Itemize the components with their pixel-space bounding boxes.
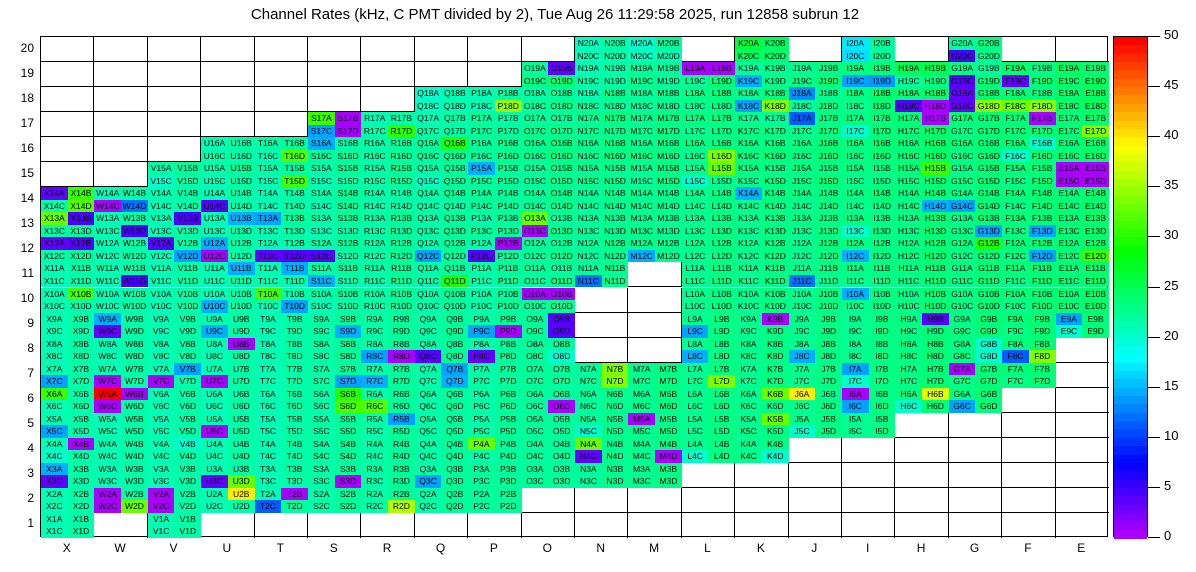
channel-N4A[interactable]: N4A bbox=[575, 438, 602, 451]
channel-T4C[interactable]: T4C bbox=[255, 450, 282, 463]
channel-O8A[interactable]: O8A bbox=[522, 338, 549, 351]
channel-Q2B[interactable]: Q2B bbox=[441, 488, 468, 501]
grid-cell-T2[interactable]: T2AT2BT2CT2D bbox=[255, 488, 308, 513]
grid-cell-W4[interactable]: W4AW4BW4CW4D bbox=[94, 438, 147, 463]
channel-V15C[interactable]: V15C bbox=[148, 175, 175, 188]
channel-E11A[interactable]: E11A bbox=[1056, 262, 1083, 275]
channel-R13B[interactable]: R13B bbox=[388, 212, 415, 225]
channel-X13D[interactable]: X13D bbox=[68, 225, 95, 238]
grid-cell-W5[interactable]: W5AW5BW5CW5D bbox=[94, 413, 147, 438]
channel-W4B[interactable]: W4B bbox=[121, 438, 148, 451]
channel-P8B[interactable]: P8B bbox=[495, 338, 522, 351]
channel-V8A[interactable]: V8A bbox=[148, 338, 175, 351]
grid-cell-M13[interactable]: M13AM13BM13CM13D bbox=[628, 212, 681, 237]
channel-U15B[interactable]: U15B bbox=[228, 162, 255, 175]
channel-K10C[interactable]: K10C bbox=[735, 300, 762, 313]
channel-R6C[interactable]: R6C bbox=[361, 400, 388, 413]
grid-cell-E1[interactable] bbox=[1056, 513, 1109, 538]
channel-O16C[interactable]: O16C bbox=[522, 150, 549, 163]
grid-cell-K16[interactable]: K16AK16BK16CK16D bbox=[735, 137, 788, 162]
channel-R10B[interactable]: R10B bbox=[388, 288, 415, 301]
grid-cell-F13[interactable]: F13AF13BF13CF13D bbox=[1002, 212, 1055, 237]
channel-J10D[interactable]: J10D bbox=[815, 300, 842, 313]
channel-L7A[interactable]: L7A bbox=[682, 363, 709, 376]
channel-G16B[interactable]: G16B bbox=[975, 137, 1002, 150]
grid-cell-Q20[interactable] bbox=[415, 37, 468, 62]
grid-cell-X6[interactable]: X6AX6BX6CX6D bbox=[41, 388, 94, 413]
channel-J8B[interactable]: J8B bbox=[815, 338, 842, 351]
channel-V11C[interactable]: V11C bbox=[148, 275, 175, 288]
grid-cell-H16[interactable]: H16AH16BH16CH16D bbox=[895, 137, 948, 162]
channel-Q14C[interactable]: Q14C bbox=[415, 200, 442, 213]
channel-L11D[interactable]: L11D bbox=[708, 275, 735, 288]
grid-cell-L4[interactable]: L4AL4BL4CL4D bbox=[682, 438, 735, 463]
channel-N7A[interactable]: N7A bbox=[575, 363, 602, 376]
channel-W7A[interactable]: W7A bbox=[94, 363, 121, 376]
channel-N5D[interactable]: N5D bbox=[602, 425, 629, 438]
channel-M16B[interactable]: M16B bbox=[655, 137, 682, 150]
channel-F9B[interactable]: F9B bbox=[1029, 313, 1056, 326]
grid-cell-R1[interactable] bbox=[361, 513, 414, 538]
channel-H16A[interactable]: H16A bbox=[895, 137, 922, 150]
grid-cell-W11[interactable]: W11AW11BW11CW11D bbox=[94, 262, 147, 287]
channel-T15A[interactable]: T15A bbox=[255, 162, 282, 175]
grid-cell-F3[interactable] bbox=[1002, 463, 1055, 488]
channel-F15B[interactable]: F15B bbox=[1029, 162, 1056, 175]
channel-W2A[interactable]: W2A bbox=[94, 488, 121, 501]
channel-N5B[interactable]: N5B bbox=[602, 413, 629, 426]
channel-T5C[interactable]: T5C bbox=[255, 425, 282, 438]
channel-V12B[interactable]: V12B bbox=[174, 237, 201, 250]
grid-cell-P3[interactable]: P3AP3BP3CP3D bbox=[468, 463, 521, 488]
channel-R2A[interactable]: R2A bbox=[361, 488, 388, 501]
channel-Q15A[interactable]: Q15A bbox=[415, 162, 442, 175]
channel-T16D[interactable]: T16D bbox=[281, 150, 308, 163]
channel-P18D[interactable]: P18D bbox=[495, 100, 522, 113]
channel-F16D[interactable]: F16D bbox=[1029, 150, 1056, 163]
grid-cell-G12[interactable]: G12AG12BG12CG12D bbox=[949, 237, 1002, 262]
channel-V10A[interactable]: V10A bbox=[148, 288, 175, 301]
grid-cell-H4[interactable] bbox=[895, 438, 948, 463]
grid-cell-M5[interactable]: M5AM5BM5CM5D bbox=[628, 413, 681, 438]
channel-O16A[interactable]: O16A bbox=[522, 137, 549, 150]
channel-V3A[interactable]: V3A bbox=[148, 463, 175, 476]
channel-R12D[interactable]: R12D bbox=[388, 250, 415, 263]
channel-P16D[interactable]: P16D bbox=[495, 150, 522, 163]
channel-T9B[interactable]: T9B bbox=[281, 313, 308, 326]
channel-O14A[interactable]: O14A bbox=[522, 187, 549, 200]
channel-H10D[interactable]: H10D bbox=[922, 300, 949, 313]
channel-H9C[interactable]: H9C bbox=[895, 325, 922, 338]
channel-I10B[interactable]: I10B bbox=[869, 288, 896, 301]
channel-O7A[interactable]: O7A bbox=[522, 363, 549, 376]
channel-W13A[interactable]: W13A bbox=[94, 212, 121, 225]
grid-cell-X17[interactable] bbox=[41, 112, 94, 137]
channel-M12B[interactable]: M12B bbox=[655, 237, 682, 250]
channel-P15D[interactable]: P15D bbox=[495, 175, 522, 188]
grid-cell-L20[interactable] bbox=[682, 37, 735, 62]
channel-X5D[interactable]: X5D bbox=[68, 425, 95, 438]
grid-cell-U12[interactable]: U12AU12BU12CU12D bbox=[201, 237, 254, 262]
channel-I8A[interactable]: I8A bbox=[842, 338, 869, 351]
grid-cell-K2[interactable] bbox=[735, 488, 788, 513]
channel-J18B[interactable]: J18B bbox=[815, 87, 842, 100]
channel-I17C[interactable]: I17C bbox=[842, 125, 869, 138]
channel-G11A[interactable]: G11A bbox=[949, 262, 976, 275]
channel-U12C[interactable]: U12C bbox=[201, 250, 228, 263]
channel-X14B[interactable]: X14B bbox=[68, 187, 95, 200]
channel-E17A[interactable]: E17A bbox=[1056, 112, 1083, 125]
channel-V15D[interactable]: V15D bbox=[174, 175, 201, 188]
grid-cell-L14[interactable]: L14AL14BL14CL14D bbox=[682, 187, 735, 212]
grid-cell-P8[interactable]: P8AP8BP8CP8D bbox=[468, 338, 521, 363]
channel-I20C[interactable]: I20C bbox=[842, 50, 869, 63]
channel-I15C[interactable]: I15C bbox=[842, 175, 869, 188]
channel-U7B[interactable]: U7B bbox=[228, 363, 255, 376]
grid-cell-F6[interactable] bbox=[1002, 388, 1055, 413]
channel-I12A[interactable]: I12A bbox=[842, 237, 869, 250]
channel-O17C[interactable]: O17C bbox=[522, 125, 549, 138]
grid-cell-K3[interactable] bbox=[735, 463, 788, 488]
grid-cell-H15[interactable]: H15AH15BH15CH15D bbox=[895, 162, 948, 187]
grid-cell-I18[interactable]: I18AI18BI18CI18D bbox=[842, 87, 895, 112]
channel-P5C[interactable]: P5C bbox=[468, 425, 495, 438]
channel-P5A[interactable]: P5A bbox=[468, 413, 495, 426]
channel-K5D[interactable]: K5D bbox=[762, 425, 789, 438]
channel-J13D[interactable]: J13D bbox=[815, 225, 842, 238]
channel-U14C[interactable]: U14C bbox=[201, 200, 228, 213]
channel-N19A[interactable]: N19A bbox=[575, 62, 602, 75]
channel-I18B[interactable]: I18B bbox=[869, 87, 896, 100]
channel-W3B[interactable]: W3B bbox=[121, 463, 148, 476]
channel-M6A[interactable]: M6A bbox=[628, 388, 655, 401]
grid-cell-M2[interactable] bbox=[628, 488, 681, 513]
channel-O5C[interactable]: O5C bbox=[522, 425, 549, 438]
grid-cell-K18[interactable]: K18AK18BK18CK18D bbox=[735, 87, 788, 112]
grid-cell-V3[interactable]: V3AV3BV3CV3D bbox=[148, 463, 201, 488]
grid-cell-G19[interactable]: G19AG19BG19CG19D bbox=[949, 62, 1002, 87]
grid-cell-N20[interactable]: N20AN20BN20CN20D bbox=[575, 37, 628, 62]
grid-cell-I10[interactable]: I10AI10BI10CI10D bbox=[842, 288, 895, 313]
grid-cell-S15[interactable]: S15AS15BS15CS15D bbox=[308, 162, 361, 187]
channel-J20C[interactable] bbox=[789, 50, 816, 63]
grid-cell-X13[interactable]: X13AX13BX13CX13D bbox=[41, 212, 94, 237]
channel-K9D[interactable]: K9D bbox=[762, 325, 789, 338]
channel-P10A[interactable]: P10A bbox=[468, 288, 495, 301]
grid-cell-X3[interactable]: X3AX3BX3CX3D bbox=[41, 463, 94, 488]
channel-I7B[interactable]: I7B bbox=[869, 363, 896, 376]
channel-V9D[interactable]: V9D bbox=[174, 325, 201, 338]
channel-U15A[interactable]: U15A bbox=[201, 162, 228, 175]
channel-X13C[interactable]: X13C bbox=[41, 225, 68, 238]
channel-P6B[interactable]: P6B bbox=[495, 388, 522, 401]
channel-F7A[interactable]: F7A bbox=[1002, 363, 1029, 376]
channel-N11D[interactable]: N11D bbox=[602, 275, 629, 288]
channel-J16C[interactable]: J16C bbox=[789, 150, 816, 163]
grid-cell-M7[interactable]: M7AM7BM7CM7D bbox=[628, 363, 681, 388]
channel-L18B[interactable]: L18B bbox=[708, 87, 735, 100]
channel-W10B[interactable]: W10B bbox=[121, 288, 148, 301]
grid-cell-T3[interactable]: T3AT3BT3CT3D bbox=[255, 463, 308, 488]
channel-Q8B[interactable]: Q8B bbox=[441, 338, 468, 351]
channel-X8D[interactable]: X8D bbox=[68, 350, 95, 363]
channel-V10D[interactable]: V10D bbox=[174, 300, 201, 313]
channel-M17C[interactable]: M17C bbox=[628, 125, 655, 138]
channel-E15A[interactable]: E15A bbox=[1056, 162, 1083, 175]
channel-H11A[interactable]: H11A bbox=[895, 262, 922, 275]
grid-cell-U19[interactable] bbox=[201, 62, 254, 87]
channel-F9C[interactable]: F9C bbox=[1002, 325, 1029, 338]
grid-cell-Q18[interactable]: Q18AQ18BQ18CQ18D bbox=[415, 87, 468, 112]
channel-F15D[interactable]: F15D bbox=[1029, 175, 1056, 188]
channel-K8D[interactable]: K8D bbox=[762, 350, 789, 363]
channel-W7D[interactable]: W7D bbox=[121, 375, 148, 388]
channel-X11C[interactable]: X11C bbox=[41, 275, 68, 288]
channel-J16D[interactable]: J16D bbox=[815, 150, 842, 163]
channel-V10B[interactable]: V10B bbox=[174, 288, 201, 301]
channel-O9A[interactable]: O9A bbox=[522, 313, 549, 326]
channel-I14A[interactable]: I14A bbox=[842, 187, 869, 200]
grid-cell-S12[interactable]: S12AS12BS12CS12D bbox=[308, 237, 361, 262]
channel-O4D[interactable]: O4D bbox=[548, 450, 575, 463]
channel-E12A[interactable]: E12A bbox=[1056, 237, 1083, 250]
grid-cell-J9[interactable]: J9AJ9BJ9CJ9D bbox=[789, 313, 842, 338]
channel-H12C[interactable]: H12C bbox=[895, 250, 922, 263]
grid-cell-T5[interactable]: T5AT5BT5CT5D bbox=[255, 413, 308, 438]
grid-cell-N19[interactable]: N19AN19BN19CN19D bbox=[575, 62, 628, 87]
channel-M19C[interactable]: M19C bbox=[628, 75, 655, 88]
channel-N16A[interactable]: N16A bbox=[575, 137, 602, 150]
channel-S11B[interactable]: S11B bbox=[335, 262, 362, 275]
channel-U6C[interactable]: U6C bbox=[201, 400, 228, 413]
channel-K12B[interactable]: K12B bbox=[762, 237, 789, 250]
grid-cell-J6[interactable]: J6AJ6BJ6CJ6D bbox=[789, 388, 842, 413]
channel-P13D[interactable]: P13D bbox=[495, 225, 522, 238]
channel-M5D[interactable]: M5D bbox=[655, 425, 682, 438]
grid-cell-V15[interactable]: V15AV15BV15CV15D bbox=[148, 162, 201, 187]
grid-cell-X12[interactable]: X12AX12BX12CX12D bbox=[41, 237, 94, 262]
channel-M5C[interactable]: M5C bbox=[628, 425, 655, 438]
grid-cell-N2[interactable] bbox=[575, 488, 628, 513]
channel-M14A[interactable]: M14A bbox=[628, 187, 655, 200]
channel-L16B[interactable]: L16B bbox=[708, 137, 735, 150]
channel-V13B[interactable]: V13B bbox=[174, 212, 201, 225]
channel-U14A[interactable]: U14A bbox=[201, 187, 228, 200]
channel-R13A[interactable]: R13A bbox=[361, 212, 388, 225]
channel-U15D[interactable]: U15D bbox=[228, 175, 255, 188]
channel-L9D[interactable]: L9D bbox=[708, 325, 735, 338]
channel-M15B[interactable]: M15B bbox=[655, 162, 682, 175]
channel-G18D[interactable]: G18D bbox=[975, 100, 1002, 113]
channel-S7D[interactable]: S7D bbox=[335, 375, 362, 388]
channel-X3A[interactable]: X3A bbox=[41, 463, 68, 476]
channel-M12D[interactable]: M12D bbox=[655, 250, 682, 263]
channel-X9B[interactable]: X9B bbox=[68, 313, 95, 326]
channel-M13D[interactable]: M13D bbox=[655, 225, 682, 238]
grid-cell-V9[interactable]: V9AV9BV9CV9D bbox=[148, 313, 201, 338]
channel-N17A[interactable]: N17A bbox=[575, 112, 602, 125]
channel-W3D[interactable]: W3D bbox=[121, 475, 148, 488]
channel-X1A[interactable]: X1A bbox=[41, 513, 68, 526]
channel-Q12D[interactable]: Q12D bbox=[441, 250, 468, 263]
grid-cell-F1[interactable] bbox=[1002, 513, 1055, 538]
grid-cell-K7[interactable]: K7AK7BK7CK7D bbox=[735, 363, 788, 388]
channel-V11B[interactable]: V11B bbox=[174, 262, 201, 275]
grid-cell-K20[interactable]: K20AK20BK20CK20D bbox=[735, 37, 788, 62]
grid-cell-X10[interactable]: X10AX10BX10CX10D bbox=[41, 288, 94, 313]
grid-cell-X14[interactable]: X14AX14BX14CX14D bbox=[41, 187, 94, 212]
channel-E14D[interactable]: E14D bbox=[1082, 200, 1109, 213]
channel-M4B[interactable]: M4B bbox=[655, 438, 682, 451]
grid-cell-X20[interactable] bbox=[41, 37, 94, 62]
channel-G15D[interactable]: G15D bbox=[975, 175, 1002, 188]
channel-X4A[interactable]: X4A bbox=[41, 438, 68, 451]
channel-P7D[interactable]: P7D bbox=[495, 375, 522, 388]
channel-P3B[interactable]: P3B bbox=[495, 463, 522, 476]
channel-R16D[interactable]: R16D bbox=[388, 150, 415, 163]
channel-U13A[interactable]: U13A bbox=[201, 212, 228, 225]
grid-cell-U20[interactable] bbox=[201, 37, 254, 62]
grid-cell-V19[interactable] bbox=[148, 62, 201, 87]
channel-K16D[interactable]: K16D bbox=[762, 150, 789, 163]
channel-R15B[interactable]: R15B bbox=[388, 162, 415, 175]
channel-Q6A[interactable]: Q6A bbox=[415, 388, 442, 401]
channel-L14D[interactable]: L14D bbox=[708, 200, 735, 213]
channel-U6A[interactable]: U6A bbox=[201, 388, 228, 401]
grid-cell-I17[interactable]: I17AI17BI17CI17D bbox=[842, 112, 895, 137]
grid-cell-J5[interactable]: J5AJ5BJ5CJ5D bbox=[789, 413, 842, 438]
grid-cell-G10[interactable]: G10AG10BG10CG10D bbox=[949, 288, 1002, 313]
channel-V5D[interactable]: V5D bbox=[174, 425, 201, 438]
channel-I12B[interactable]: I12B bbox=[869, 237, 896, 250]
channel-O11D[interactable]: O11D bbox=[548, 275, 575, 288]
grid-cell-T4[interactable]: T4AT4BT4CT4D bbox=[255, 438, 308, 463]
grid-cell-V16[interactable] bbox=[148, 137, 201, 162]
channel-E16A[interactable]: E16A bbox=[1056, 137, 1083, 150]
channel-V6B[interactable]: V6B bbox=[174, 388, 201, 401]
grid-cell-G5[interactable] bbox=[949, 413, 1002, 438]
channel-L19D[interactable]: L19D bbox=[708, 75, 735, 88]
channel-R8C[interactable]: R8C bbox=[361, 350, 388, 363]
channel-Q3B[interactable]: Q3B bbox=[441, 463, 468, 476]
channel-M14C[interactable]: M14C bbox=[628, 200, 655, 213]
channel-P16A[interactable]: P16A bbox=[468, 137, 495, 150]
grid-cell-T12[interactable]: T12AT12BT12CT12D bbox=[255, 237, 308, 262]
channel-E9B[interactable]: E9B bbox=[1082, 313, 1109, 326]
channel-L18D[interactable]: L18D bbox=[708, 100, 735, 113]
channel-L19C[interactable]: L19C bbox=[682, 75, 709, 88]
channel-X1B[interactable]: X1B bbox=[68, 513, 95, 526]
channel-L18C[interactable]: L18C bbox=[682, 100, 709, 113]
channel-R13D[interactable]: R13D bbox=[388, 225, 415, 238]
channel-N15D[interactable]: N15D bbox=[602, 175, 629, 188]
channel-Q18C[interactable]: Q18C bbox=[415, 100, 442, 113]
channel-K12D[interactable]: K12D bbox=[762, 250, 789, 263]
grid-cell-N5[interactable]: N5AN5BN5CN5D bbox=[575, 413, 628, 438]
channel-F12C[interactable]: F12C bbox=[1002, 250, 1029, 263]
channel-U6D[interactable]: U6D bbox=[228, 400, 255, 413]
channel-V5B[interactable]: V5B bbox=[174, 413, 201, 426]
channel-L11B[interactable]: L11B bbox=[708, 262, 735, 275]
grid-cell-M8[interactable] bbox=[628, 338, 681, 363]
grid-cell-P5[interactable]: P5AP5BP5CP5D bbox=[468, 413, 521, 438]
channel-S7A[interactable]: S7A bbox=[308, 363, 335, 376]
channel-R11A[interactable]: R11A bbox=[361, 262, 388, 275]
channel-J7C[interactable]: J7C bbox=[789, 375, 816, 388]
channel-H6D[interactable]: H6D bbox=[922, 400, 949, 413]
channel-P4D[interactable]: P4D bbox=[495, 450, 522, 463]
grid-cell-R14[interactable]: R14AR14BR14CR14D bbox=[361, 187, 414, 212]
channel-I14B[interactable]: I14B bbox=[869, 187, 896, 200]
channel-V4A[interactable]: V4A bbox=[148, 438, 175, 451]
channel-U4C[interactable]: U4C bbox=[201, 450, 228, 463]
channel-Q16D[interactable]: Q16D bbox=[441, 150, 468, 163]
channel-W5C[interactable]: W5C bbox=[94, 425, 121, 438]
channel-N15C[interactable]: N15C bbox=[575, 175, 602, 188]
channel-O12A[interactable]: O12A bbox=[522, 237, 549, 250]
channel-G17D[interactable]: G17D bbox=[975, 125, 1002, 138]
grid-cell-M4[interactable]: M4AM4BM4CM4D bbox=[628, 438, 681, 463]
channel-G18A[interactable]: G18A bbox=[949, 87, 976, 100]
grid-cell-K11[interactable]: K11AK11BK11CK11D bbox=[735, 262, 788, 287]
channel-Q11A[interactable]: Q11A bbox=[415, 262, 442, 275]
channel-X13A[interactable]: X13A bbox=[41, 212, 68, 225]
channel-T10D[interactable]: T10D bbox=[281, 300, 308, 313]
channel-O8D[interactable]: O8D bbox=[548, 350, 575, 363]
channel-W6A[interactable]: W6A bbox=[94, 388, 121, 401]
channel-G12C[interactable]: G12C bbox=[949, 250, 976, 263]
grid-cell-I3[interactable] bbox=[842, 463, 895, 488]
channel-U2A[interactable]: U2A bbox=[201, 488, 228, 501]
grid-cell-N3[interactable]: N3AN3BN3CN3D bbox=[575, 463, 628, 488]
channel-L6A[interactable]: L6A bbox=[682, 388, 709, 401]
channel-F12D[interactable]: F12D bbox=[1029, 250, 1056, 263]
channel-X6C[interactable]: X6C bbox=[41, 400, 68, 413]
channel-K11B[interactable]: K11B bbox=[762, 262, 789, 275]
channel-T3C[interactable]: T3C bbox=[255, 475, 282, 488]
channel-T8A[interactable]: T8A bbox=[255, 338, 282, 351]
grid-cell-M17[interactable]: M17AM17BM17CM17D bbox=[628, 112, 681, 137]
channel-R3B[interactable]: R3B bbox=[388, 463, 415, 476]
channel-W5A[interactable]: W5A bbox=[94, 413, 121, 426]
channel-F7D[interactable]: F7D bbox=[1029, 375, 1056, 388]
channel-I16A[interactable]: I16A bbox=[842, 137, 869, 150]
grid-cell-P15[interactable]: P15AP15BP15CP15D bbox=[468, 162, 521, 187]
channel-K6A[interactable]: K6A bbox=[735, 388, 762, 401]
channel-O10C[interactable]: O10C bbox=[522, 300, 549, 313]
grid-cell-M15[interactable]: M15AM15BM15CM15D bbox=[628, 162, 681, 187]
grid-cell-K1[interactable] bbox=[735, 513, 788, 538]
grid-cell-U4[interactable]: U4AU4BU4CU4D bbox=[201, 438, 254, 463]
channel-U5C[interactable]: U5C bbox=[201, 425, 228, 438]
channel-L10B[interactable]: L10B bbox=[708, 288, 735, 301]
grid-cell-L9[interactable]: L9AL9BL9CL9D bbox=[682, 313, 735, 338]
channel-S12D[interactable]: S12D bbox=[335, 250, 362, 263]
channel-M11A[interactable] bbox=[628, 262, 655, 275]
grid-cell-I7[interactable]: I7AI7BI7CI7D bbox=[842, 363, 895, 388]
channel-E14A[interactable]: E14A bbox=[1056, 187, 1083, 200]
channel-P7A[interactable]: P7A bbox=[468, 363, 495, 376]
channel-S8C[interactable]: S8C bbox=[308, 350, 335, 363]
channel-J7A[interactable]: J7A bbox=[789, 363, 816, 376]
channel-G9C[interactable]: G9C bbox=[949, 325, 976, 338]
channel-P8A[interactable]: P8A bbox=[468, 338, 495, 351]
channel-R14C[interactable]: R14C bbox=[361, 200, 388, 213]
channel-W10A[interactable]: W10A bbox=[94, 288, 121, 301]
channel-G16D[interactable]: G16D bbox=[975, 150, 1002, 163]
grid-cell-U6[interactable]: U6AU6BU6CU6D bbox=[201, 388, 254, 413]
channel-G17C[interactable]: G17C bbox=[949, 125, 976, 138]
